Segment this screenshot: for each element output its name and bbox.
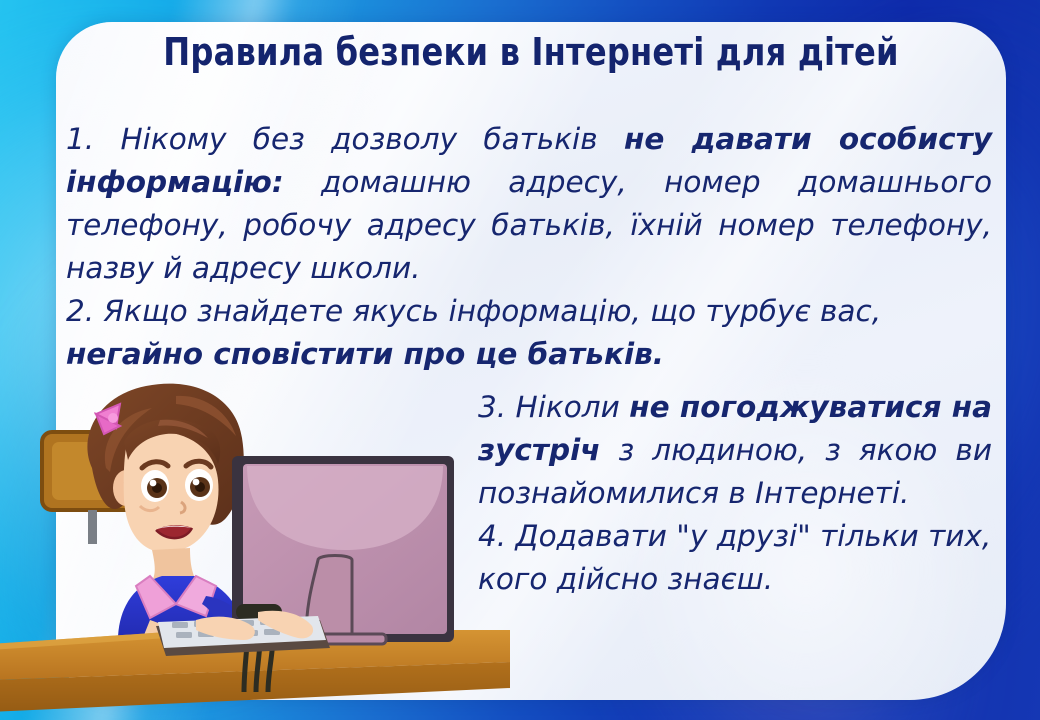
rules-text-top: 1. Нікому без дозволу батьків не давати …	[66, 118, 992, 376]
rule-1-number: 1.	[66, 122, 94, 156]
rule-item-2: 2. Якщо знайдете якусь інформацію, що ту…	[66, 290, 992, 376]
rule-2-bold: негайно сповістити про це батьків.	[66, 337, 664, 371]
eye-right	[185, 469, 213, 501]
rule-item-4: 4. Додавати "у друзі" тільки тих, кого д…	[478, 515, 992, 601]
rule-4-lead: Додавати "у друзі" тільки тих, кого дійс…	[478, 519, 991, 596]
eye-left	[141, 470, 169, 502]
girl-at-computer-illustration	[0, 372, 520, 720]
page-title: Правила безпеки в Інтернеті для дітей	[85, 30, 978, 74]
rule-2-lead: Якщо знайдете якусь інформацію, що турбу…	[94, 294, 881, 328]
rule-2-number: 2.	[66, 294, 94, 328]
rule-1-lead: Нікому без дозволу батьків	[94, 122, 624, 156]
rule-3-lead: Ніколи	[506, 390, 629, 424]
rule-item-3: 3. Ніколи не погоджуватися на зустріч з …	[478, 386, 992, 515]
rule-item-1: 1. Нікому без дозволу батьків не давати …	[66, 118, 992, 290]
slide-canvas: Правила безпеки в Інтернеті для дітей 1.…	[0, 0, 1040, 720]
rules-text-right: 3. Ніколи не погоджуватися на зустріч з …	[478, 386, 992, 601]
